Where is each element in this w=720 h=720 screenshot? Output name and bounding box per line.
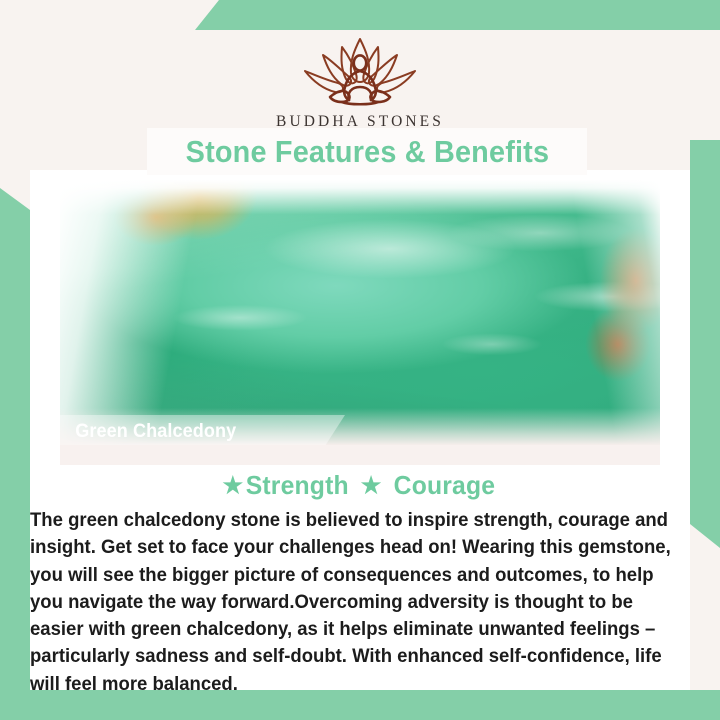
benefits-description: The green chalcedony stone is believed t… (30, 507, 672, 698)
decorative-band-top (195, 0, 720, 30)
decorative-band-right (690, 140, 720, 548)
star-icon-1: ★ (222, 472, 243, 499)
keyword-strength: Strength (246, 470, 349, 501)
page-title-banner: Stone Features & Benefits (147, 128, 587, 175)
green-chalcedony-photo: Green Chalcedony (60, 180, 660, 445)
page-title: Stone Features & Benefits (185, 134, 549, 170)
photo-caption-banner: Green Chalcedony (60, 415, 345, 445)
star-icon-2: ★ (361, 472, 382, 499)
lotus-meditation-figure-icon (285, 33, 435, 111)
stone-bottom-fade (60, 180, 660, 445)
decorative-band-left (0, 188, 30, 696)
infographic-page: BUDDHA STONES Stone Features & Benefits … (0, 0, 720, 720)
keyword-courage: Courage (393, 470, 495, 501)
photo-divider-strip (60, 445, 660, 465)
content-card: BUDDHA STONES Stone Features & Benefits … (30, 30, 690, 690)
benefits-headline: ★Strength★Courage (30, 470, 690, 501)
photo-caption-label: Green Chalcedony (60, 421, 236, 443)
